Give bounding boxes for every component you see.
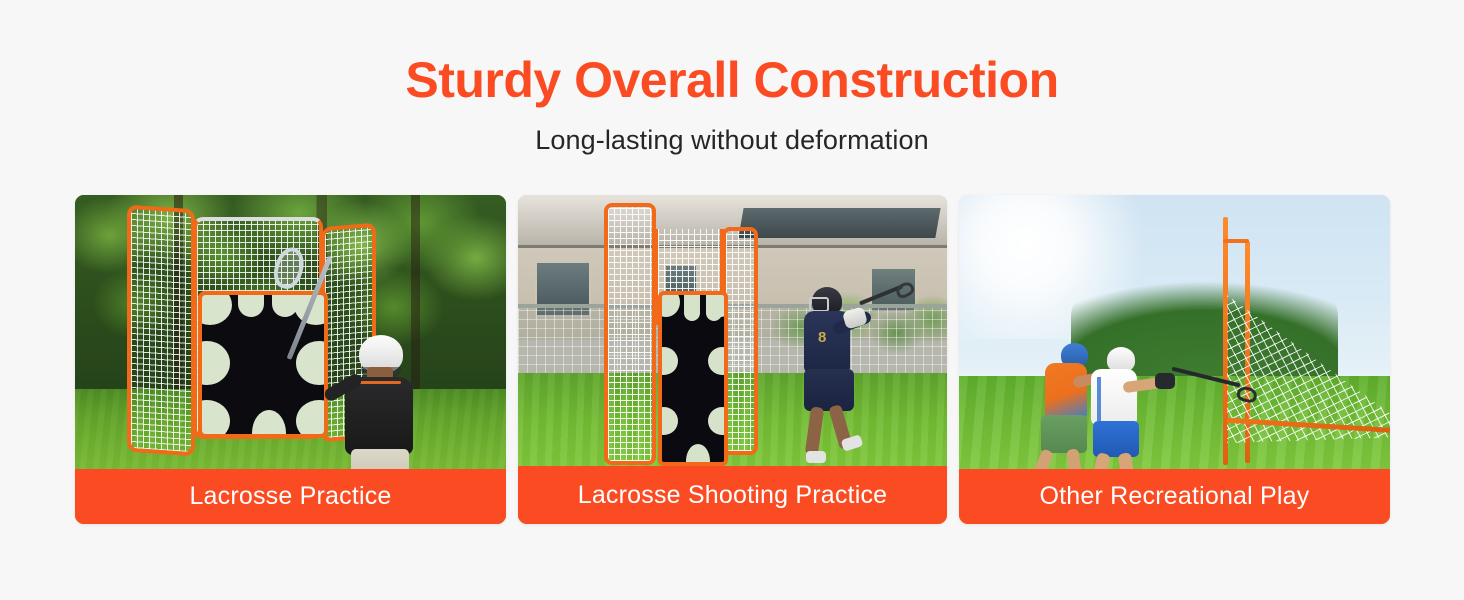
feature-card-other-recreational-play[interactable]: Other Recreational Play [959,195,1390,524]
feature-card-row: Lacrosse Practice [75,195,1390,524]
shooting-target [658,291,728,466]
header: Sturdy Overall Construction Long-lasting… [0,0,1464,156]
player-figure [329,335,421,485]
backstop-left-wing [604,203,656,465]
promo-banner: Sturdy Overall Construction Long-lasting… [0,0,1464,600]
card-caption: Lacrosse Shooting Practice [518,466,947,524]
backstop-left-wing [127,205,195,457]
page-title: Sturdy Overall Construction [0,54,1464,107]
player-figure: 8 [796,287,882,477]
card-caption: Other Recreational Play [959,469,1390,524]
page-subtitle: Long-lasting without deformation [0,125,1464,156]
feature-card-lacrosse-practice[interactable]: Lacrosse Practice [75,195,506,524]
card-caption: Lacrosse Practice [75,469,506,524]
goal-crossbar [1223,239,1249,243]
feature-card-lacrosse-shooting-practice[interactable]: 8 Lacrosse Shooting Practice [518,195,947,524]
